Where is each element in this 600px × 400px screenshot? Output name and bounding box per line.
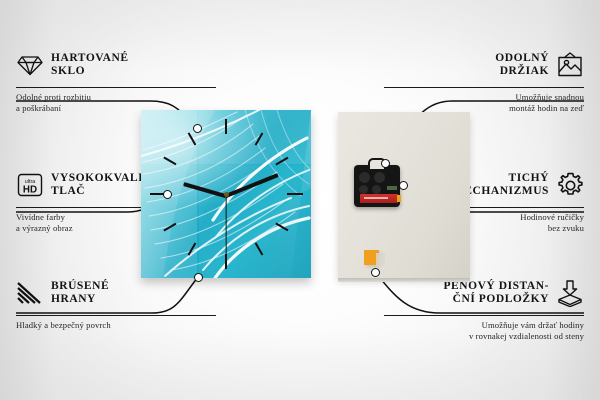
mechanism-label [387, 186, 397, 190]
press-down-pad-icon [556, 279, 584, 307]
ultra-hd-icon: ultra HD [16, 171, 44, 199]
mechanism-knob [374, 172, 385, 183]
diamond-icon [16, 51, 44, 79]
mechanism-knob [359, 185, 368, 194]
marker-glass [193, 124, 202, 133]
bevelled-edges-icon [16, 279, 44, 307]
infographic-canvas: HARTOVANÉ SKLO Odolné proti rozbitiu a p… [0, 0, 600, 400]
feature-rule [16, 87, 216, 88]
feature-rule [384, 315, 584, 316]
foam-spacer-pad [364, 250, 379, 265]
feature-polished-edges: BRÚSENÉ HRANY Hladký a bezpečný povrch [16, 274, 216, 331]
feature-title: PENOVÝ DISTAN- ČNÍ PODLOŽKY [443, 280, 549, 305]
feature-description: Hladký a bezpečný povrch [16, 320, 216, 331]
feature-header: HARTOVANÉ SKLO [16, 46, 216, 84]
feature-description: Umožňuje snadnou montáž hodin na zeď [384, 92, 584, 114]
feature-header: ODOLNÝ DRŽIAK [384, 46, 584, 84]
mechanism-knob [372, 185, 381, 194]
picture-hanger-icon [556, 51, 584, 79]
feature-durable-hanger: ODOLNÝ DRŽIAK Umožňuje snadnou montáž ho… [384, 46, 584, 114]
feature-title: ODOLNÝ DRŽIAK [495, 52, 549, 77]
marker-edges [194, 273, 203, 282]
clock-tick-3 [287, 193, 303, 195]
gear-icon [556, 171, 584, 199]
feature-tempered-glass: HARTOVANÉ SKLO Odolné proti rozbitiu a p… [16, 46, 216, 114]
mechanism-knob [359, 172, 370, 183]
marker-holder [381, 159, 390, 168]
feature-title: BRÚSENÉ HRANY [51, 280, 109, 305]
feature-rule [384, 87, 584, 88]
battery [360, 194, 398, 203]
feature-rule [16, 315, 216, 316]
clock-mechanism [354, 165, 400, 207]
svg-text:HD: HD [23, 184, 37, 195]
second-hand [225, 195, 226, 267]
clock-center-cap [224, 192, 229, 197]
marker-foam [371, 268, 380, 277]
clock-back-panel [338, 112, 470, 278]
feature-title: HARTOVANÉ SKLO [51, 52, 129, 77]
marker-print [163, 190, 172, 199]
marker-mech [399, 181, 408, 190]
feature-description: Umožňuje vám držať hodiny v rovnakej vzd… [384, 320, 584, 342]
clock-tick-12 [225, 119, 227, 134]
feature-header: BRÚSENÉ HRANY [16, 274, 216, 312]
feature-foam-spacers: PENOVÝ DISTAN- ČNÍ PODLOŽKY Umožňuje vám… [384, 274, 584, 342]
